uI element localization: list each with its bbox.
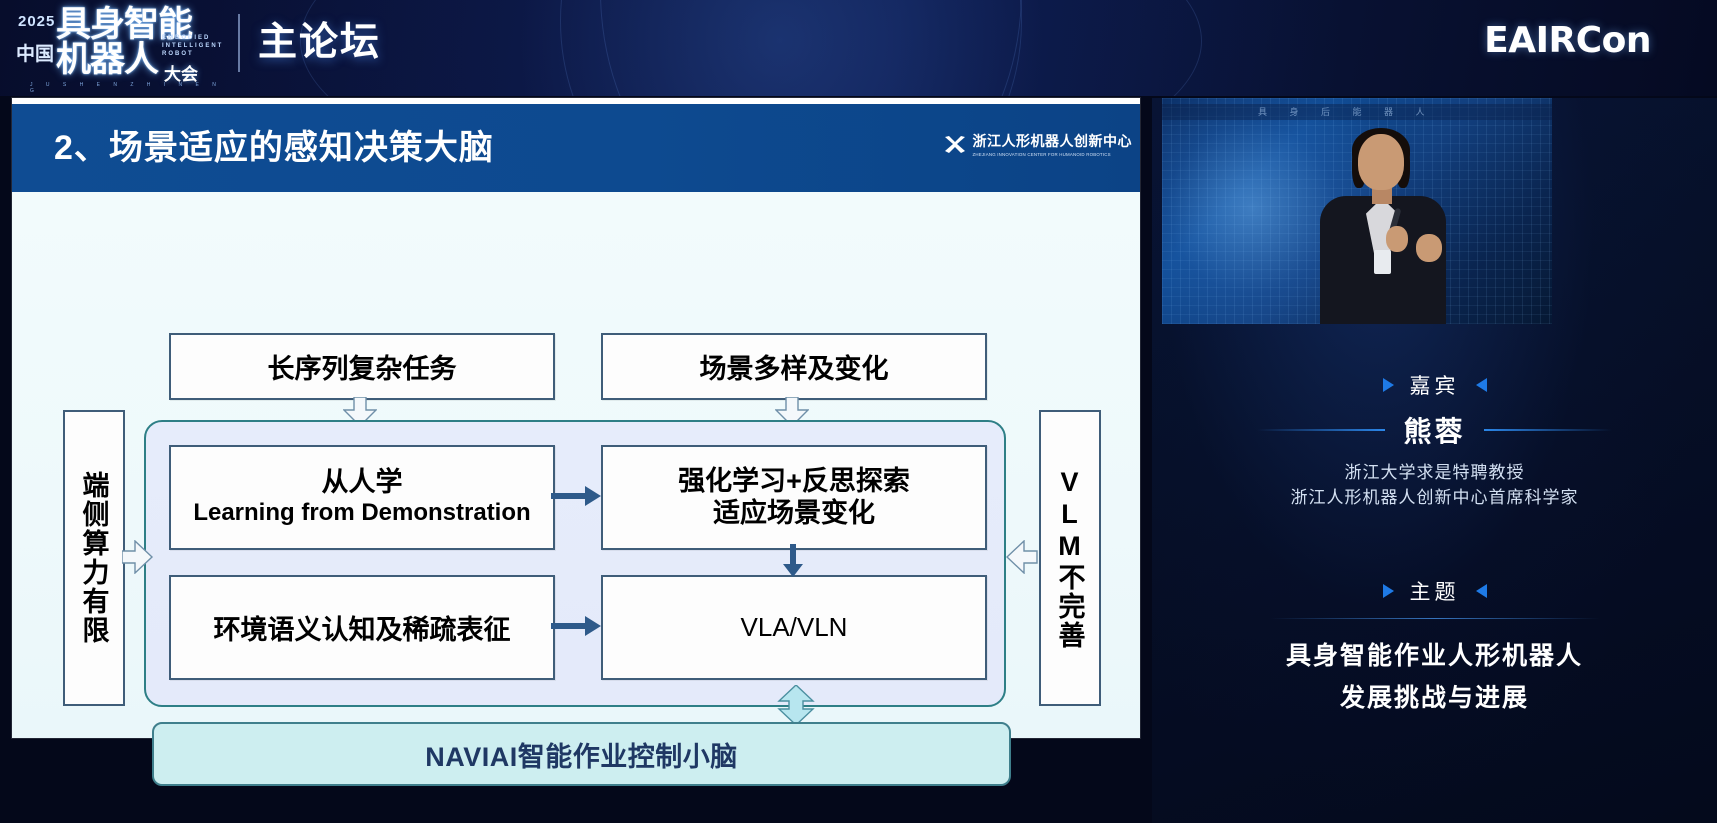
slide-body: 长序列复杂任务 场景多样及变化 从人学 Learning from Demons… xyxy=(12,192,1140,738)
speaker-info-panel: 具 身 后 能 器 人 嘉宾 熊蓉 浙江大学求是特聘教授 浙江人形机器人创新中心… xyxy=(1152,98,1717,823)
diagram-box-semantic-cognition: 环境语义认知及稀疏表征 xyxy=(169,575,555,680)
topic-divider xyxy=(1270,618,1600,619)
topic-title-line-1: 具身智能作业人形机器人 xyxy=(1152,636,1717,672)
header-divider xyxy=(238,14,240,72)
speaker-silhouette xyxy=(1312,134,1452,324)
triangle-right-icon xyxy=(1383,378,1394,392)
down-arrow-icon xyxy=(781,544,805,578)
logo-english-subtitle: EMBODIED INTELLIGENT ROBOT xyxy=(162,34,223,58)
box-title-line1: 强化学习+反思探索 xyxy=(678,466,910,498)
logo-country: 中国 xyxy=(16,44,54,65)
triangle-right-icon xyxy=(1383,584,1394,598)
guest-section-header: 嘉宾 xyxy=(1152,370,1717,400)
diagram-box-edge-compute-limit: 端侧算力有限 xyxy=(63,410,125,706)
speaker-head xyxy=(1358,134,1404,190)
box-title-cn: 从人学 xyxy=(193,467,530,499)
organization-logo-text: 浙江人形机器人创新中心 ZHEJIANG INNOVATION CENTER F… xyxy=(973,134,1133,157)
diagram-box-reinforcement-learning: 强化学习+反思探索 适应场景变化 xyxy=(601,445,987,550)
logo-year: 2025 xyxy=(18,14,55,29)
diagram-box-scene-variety: 场景多样及变化 xyxy=(601,333,987,400)
topic-section-label: 主题 xyxy=(1410,576,1460,606)
topic-title-line-2: 发展挑战与进展 xyxy=(1152,678,1717,714)
right-arrow-icon xyxy=(551,484,603,508)
topic-section-header: 主题 xyxy=(1152,576,1717,606)
forum-title: 主论坛 xyxy=(258,14,381,72)
speaker-hand-right xyxy=(1416,234,1442,262)
hollow-left-arrow-icon xyxy=(1006,540,1038,574)
organization-logo: 浙江人形机器人创新中心 ZHEJIANG INNOVATION CENTER F… xyxy=(944,134,1133,157)
right-arrow-icon xyxy=(551,614,603,638)
divider-line-left xyxy=(1257,429,1385,431)
guest-section-label: 嘉宾 xyxy=(1410,370,1460,400)
speaker-badge xyxy=(1374,250,1391,274)
diagram-box-learning-from-demonstration: 从人学 Learning from Demonstration xyxy=(169,445,555,550)
logo-main-line2: 机器人 xyxy=(56,42,158,78)
diagram-box-long-sequence-task: 长序列复杂任务 xyxy=(169,333,555,400)
org-name-cn: 浙江人形机器人创新中心 xyxy=(973,133,1133,149)
triangle-left-icon xyxy=(1476,378,1487,392)
butterfly-mark-icon xyxy=(944,135,966,157)
eaircon-brand-logo: EAIRCon xyxy=(1484,18,1651,64)
video-top-caption-strip: 具 身 后 能 器 人 xyxy=(1162,104,1552,120)
naviai-cerebellum-bar: NAVIAI智能作业控制小脑 xyxy=(152,722,1011,786)
video-overlay-text: 具 身 后 能 器 人 xyxy=(1258,105,1435,118)
presentation-slide: 2、场景适应的感知决策大脑 浙江人形机器人创新中心 ZHEJIANG INNOV… xyxy=(12,98,1140,738)
top-header-bar: 2025 中国 具身智能 机器人 EMBODIED INTELLIGENT RO… xyxy=(0,0,1717,96)
conference-logo: 2025 中国 具身智能 机器人 EMBODIED INTELLIGENT RO… xyxy=(12,4,222,90)
org-name-en: ZHEJIANG INNOVATION CENTER FOR HUMANOID … xyxy=(973,153,1133,158)
slide-title: 2、场景适应的感知决策大脑 xyxy=(54,124,494,172)
triangle-left-icon xyxy=(1476,584,1487,598)
slide-header-band: 2、场景适应的感知决策大脑 浙江人形机器人创新中心 ZHEJIANG INNOV… xyxy=(12,104,1140,192)
guest-bio-line-1: 浙江大学求是特聘教授 xyxy=(1152,458,1717,483)
guest-name-row: 熊蓉 xyxy=(1152,410,1717,450)
diagram-box-vla-vln: VLA/VLN xyxy=(601,575,987,680)
logo-pinyin: J U S H E N Z H I N E N G xyxy=(30,82,222,94)
guest-bio-line-2: 浙江人形机器人创新中心首席科学家 xyxy=(1152,483,1717,508)
hollow-right-arrow-icon xyxy=(122,540,154,574)
speaker-hand-left xyxy=(1386,226,1408,252)
decorative-arc xyxy=(300,0,1202,96)
box-title-en: Learning from Demonstration xyxy=(193,499,530,527)
diagram-box-vlm-incomplete: VLM不完善 xyxy=(1039,410,1101,706)
guest-name: 熊蓉 xyxy=(1403,410,1465,450)
speaker-video-feed: 具 身 后 能 器 人 xyxy=(1162,98,1552,324)
box-title-line2: 适应场景变化 xyxy=(678,498,910,530)
divider-line-right xyxy=(1484,429,1612,431)
